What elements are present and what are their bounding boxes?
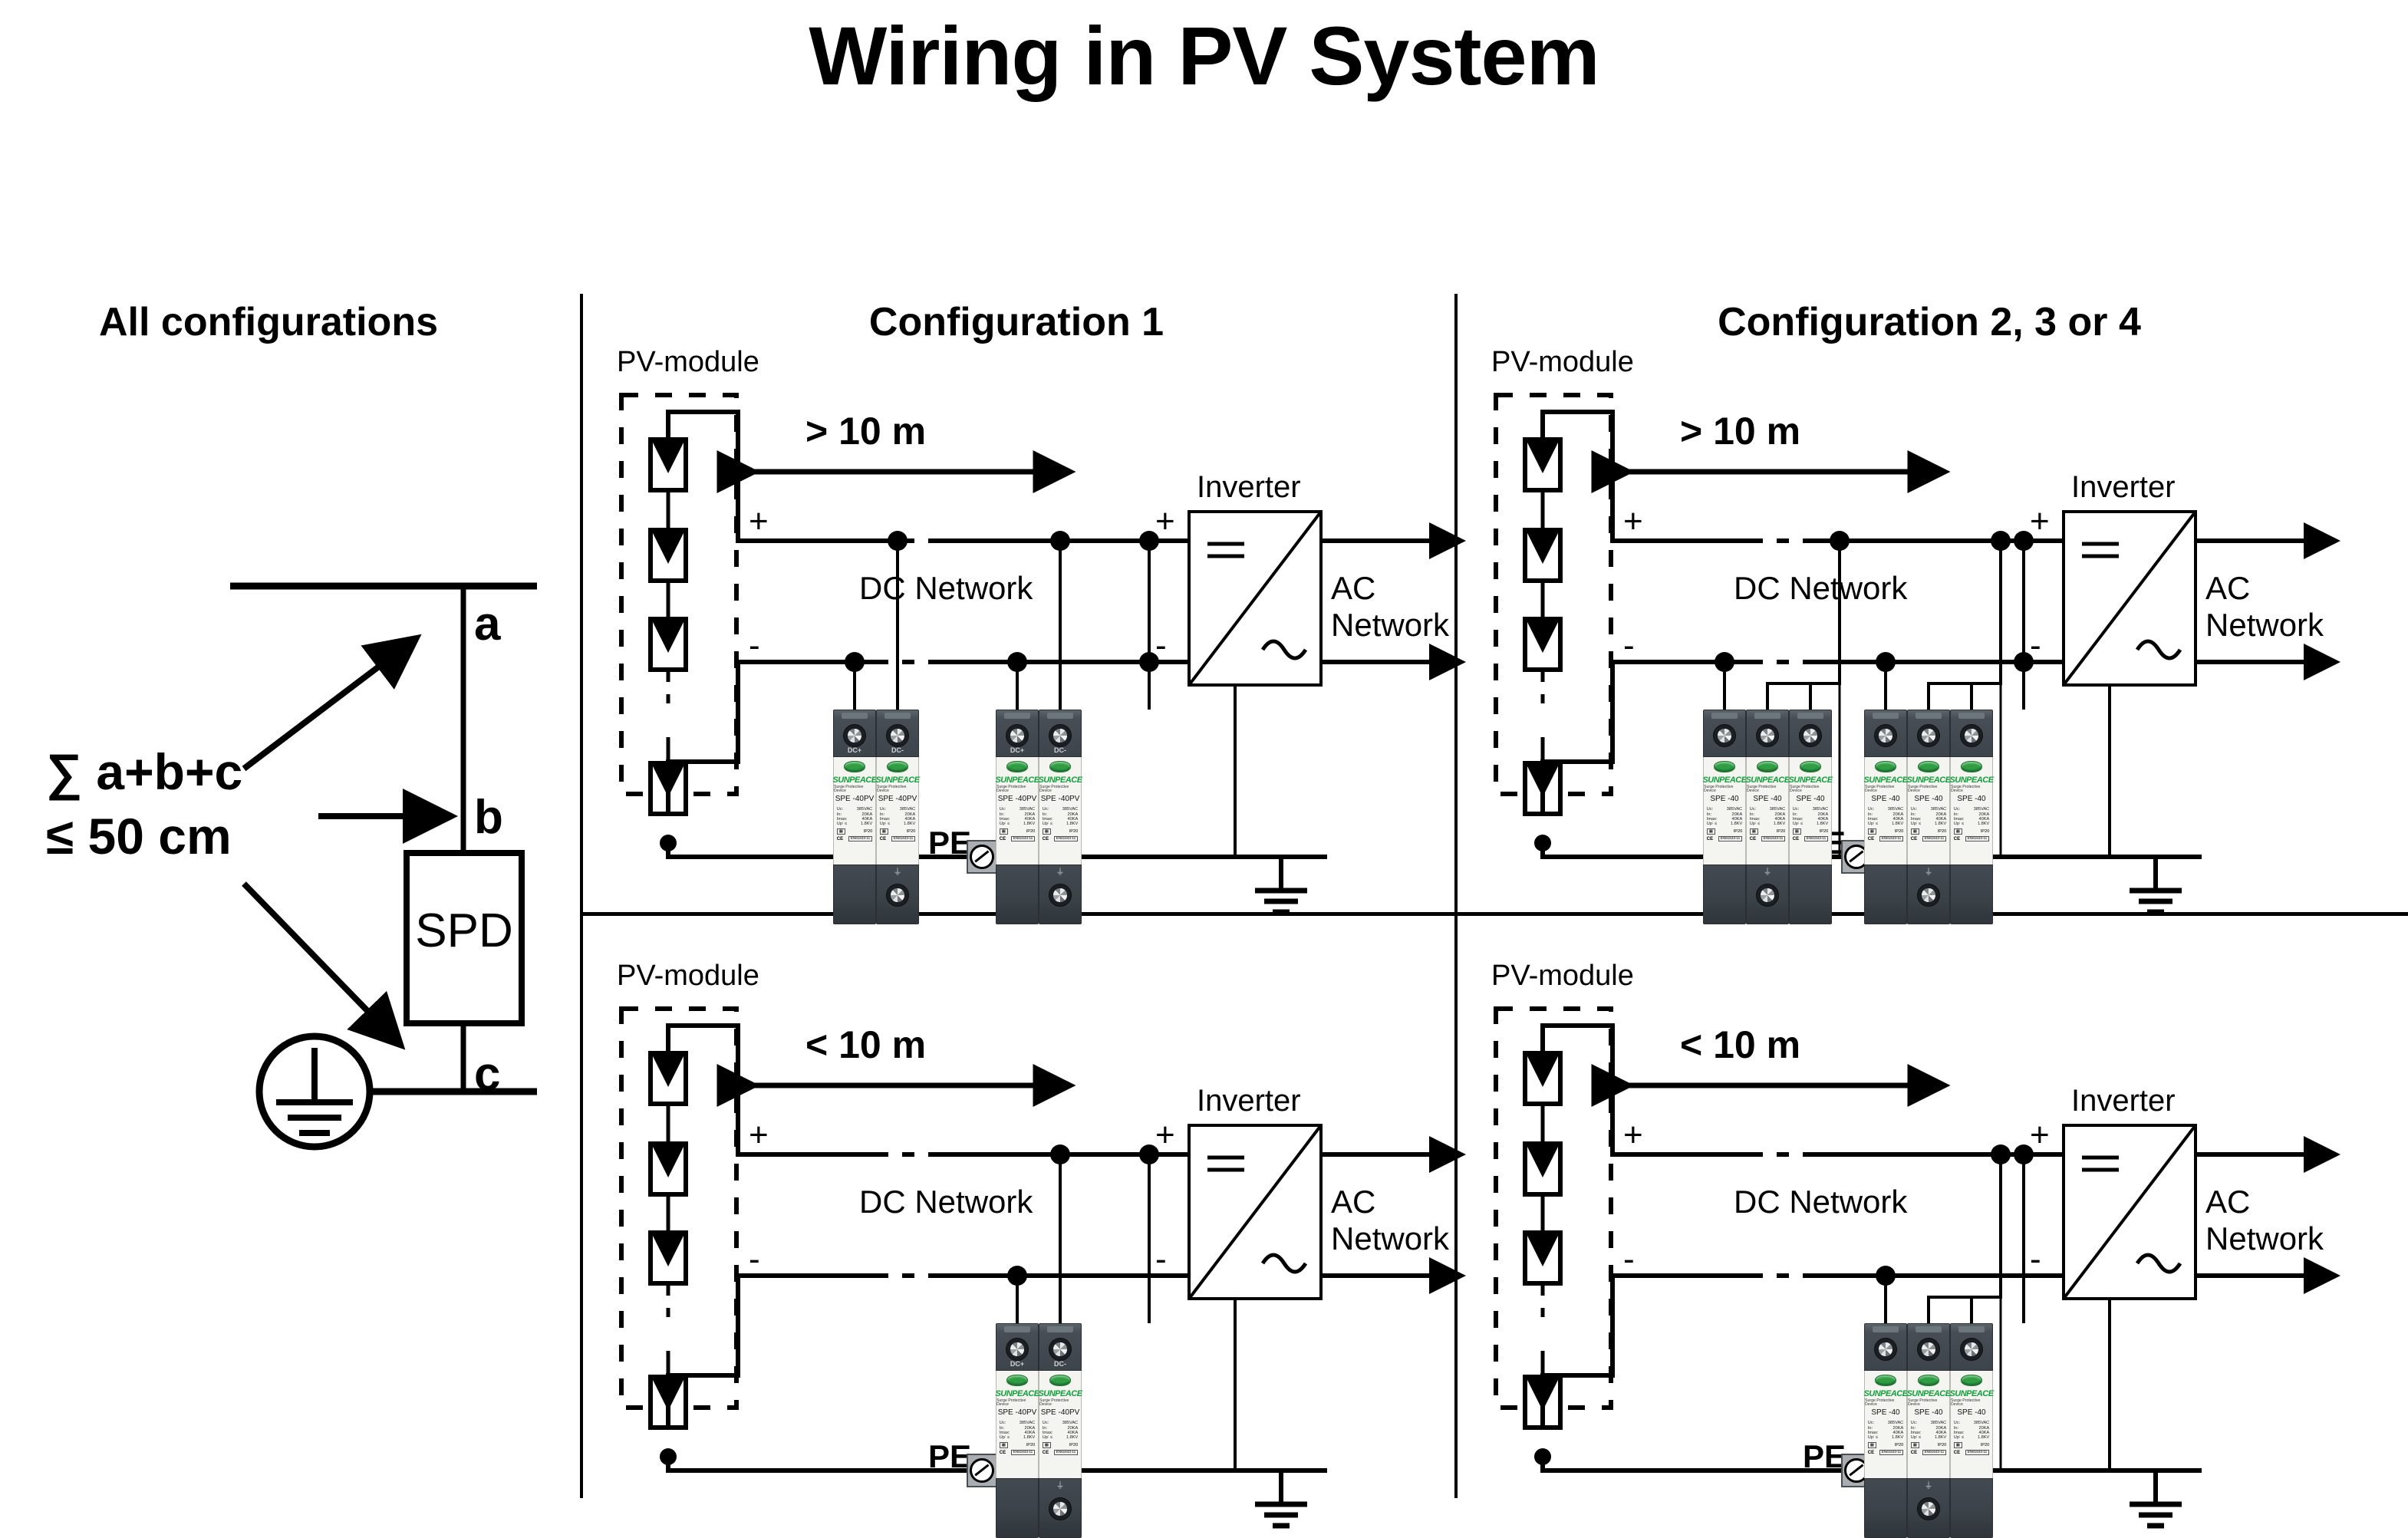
spd-cap-notch — [1916, 1326, 1942, 1332]
junction-dot — [888, 531, 908, 551]
ip-rating-row: ▦IP20 — [1954, 828, 1989, 835]
page-title: Wiring in PV System — [0, 8, 2408, 104]
pv-module-label: PV-module — [1491, 960, 1634, 993]
screw-terminal-icon[interactable] — [1713, 724, 1736, 747]
screw-terminal-icon[interactable] — [1874, 1338, 1897, 1361]
ip-rating-value: IP20 — [1820, 829, 1829, 834]
enclosure-icon: ▦ — [1000, 828, 1008, 835]
spec-row: Up∶ ≤1.8KV — [1911, 1435, 1946, 1440]
screw-terminal-icon[interactable] — [1874, 724, 1897, 747]
spd-base-cap — [996, 1478, 1039, 1538]
model-number: SPE -40 — [1871, 795, 1899, 803]
inverter-label: Inverter — [1197, 470, 1301, 505]
spd-device-ac[interactable]: SUNPEACESurge Protective DeviceSPE -40Uc… — [1864, 1323, 1993, 1538]
spd-terminal-label: DC- — [1039, 746, 1081, 754]
distance-label: < 10 m — [1680, 1023, 1800, 1067]
certification-row: CEEN61643-11 — [1911, 1450, 1946, 1455]
junction-dot — [1830, 531, 1850, 551]
polarity-negative-source: - — [1623, 627, 1635, 665]
ce-mark: CE — [1911, 837, 1917, 841]
brand-name: SUNPEACE — [1906, 1390, 1950, 1398]
dc-network-label: DC Network — [1734, 1184, 1907, 1220]
brand-name: SUNPEACE — [1863, 776, 1907, 785]
model-number: SPE -40PV — [835, 795, 875, 803]
spd-base-cap — [1703, 865, 1746, 924]
product-category: Surge Protective Device — [1951, 785, 1992, 793]
model-number: SPE -40 — [1957, 1409, 1985, 1417]
screw-terminal-icon[interactable] — [1799, 724, 1822, 747]
spec-row: Up∶ ≤1.8KV — [837, 822, 872, 826]
spd-terminal-cap — [1907, 1323, 1950, 1371]
product-category: Surge Protective Device — [1951, 1399, 1992, 1407]
spd-terminal-cap — [1746, 710, 1789, 757]
spd-pole[interactable]: SUNPEACESurge Protective DeviceSPE -40Uc… — [1703, 710, 1746, 924]
pe-label: PE — [928, 825, 971, 861]
screw-terminal-icon[interactable] — [1960, 1338, 1983, 1361]
junction-dot — [1007, 652, 1027, 672]
spd-terminal-label: DC+ — [834, 746, 875, 754]
ip-rating-value: IP20 — [1981, 1443, 1990, 1447]
model-number: SPE -40 — [1957, 795, 1985, 803]
spec-value: 1.8KV — [1817, 822, 1828, 826]
spd-terminal-cap — [1703, 710, 1746, 757]
polarity-positive-inverter: + — [2030, 1116, 2050, 1154]
certification-row: CEEN61643-11 — [1868, 836, 1903, 841]
spec-value: 1.8KV — [1066, 1435, 1078, 1440]
spd-label-face: SUNPEACESurge Protective DeviceSPE -40PV… — [1039, 1371, 1082, 1478]
ac-network-label: AC Network — [2205, 570, 2324, 644]
model-number: SPE -40PV — [1041, 1409, 1080, 1417]
spd-cap-notch — [1873, 713, 1899, 719]
inverter-label: Inverter — [2071, 470, 2176, 505]
spec-row: Up∶ ≤1.8KV — [1868, 1435, 1903, 1440]
ip-rating-row: ▦IP20 — [1911, 1442, 1946, 1448]
spec-list: Uc:385VACIn:20KAImax:40KAUp∶ ≤1.8KV — [1911, 807, 1946, 826]
junction-dot — [1534, 1448, 1551, 1465]
ip-rating-row: ▦IP20 — [1954, 1442, 1989, 1448]
certification-row: CEEN61643-11 — [1000, 836, 1035, 841]
standard-reference: EN61643-11 — [891, 836, 915, 841]
polarity-positive-source: + — [749, 1116, 769, 1154]
spd-terminal-label: DC- — [1039, 1360, 1081, 1368]
dc-network-label: DC Network — [859, 570, 1033, 607]
spec-value: 1.8KV — [1892, 1435, 1903, 1440]
arrow-to-a — [244, 640, 414, 769]
junction-dot — [1876, 1266, 1896, 1286]
status-indicator-green — [1875, 761, 1896, 772]
spec-list: Uc:385VACIn:20KAImax:40KAUp∶ ≤1.8KV — [1793, 807, 1828, 826]
ce-mark: CE — [1954, 1451, 1960, 1455]
spd-cap-notch — [1754, 713, 1781, 719]
enclosure-icon: ▦ — [1707, 828, 1715, 835]
dc-network-label: DC Network — [1734, 570, 1907, 607]
standard-reference: EN61643-11 — [1879, 836, 1903, 841]
spd-pole[interactable]: SUNPEACESurge Protective DeviceSPE -40Uc… — [1864, 710, 1907, 924]
spec-value: 1.8KV — [1978, 1435, 1989, 1440]
ip-rating-value: IP20 — [1069, 1443, 1079, 1447]
distance-label: > 10 m — [1680, 409, 1800, 453]
screw-terminal-icon[interactable] — [1006, 1338, 1029, 1361]
ip-rating-row: ▦IP20 — [1911, 828, 1946, 835]
enclosure-icon: ▦ — [1868, 828, 1876, 835]
enclosure-icon: ▦ — [1911, 828, 1919, 835]
spec-row: Up∶ ≤1.8KV — [1911, 822, 1946, 826]
earth-symbol-icon: ⏚ — [1925, 1482, 1933, 1490]
earth-symbol-icon: ⏚ — [894, 868, 902, 877]
spd-base-cap: ⏚ — [1907, 1478, 1950, 1538]
junction-dot — [1050, 1144, 1070, 1164]
spd-pole[interactable]: DC-SUNPEACESurge Protective DeviceSPE -4… — [1039, 1323, 1082, 1538]
spd-pole[interactable]: SUNPEACESurge Protective DeviceSPE -40Uc… — [1864, 1323, 1907, 1538]
spec-key: Up∶ ≤ — [1000, 1435, 1010, 1440]
spd-label-face: SUNPEACESurge Protective DeviceSPE -40Uc… — [1950, 757, 1993, 865]
spd-device-dc[interactable]: DC+SUNPEACESurge Protective DeviceSPE -4… — [996, 710, 1082, 924]
pe-label: PE — [1803, 1438, 1846, 1475]
ce-mark: CE — [1000, 837, 1006, 841]
model-number: SPE -40PV — [1041, 795, 1080, 803]
ce-mark: CE — [1793, 837, 1799, 841]
dc-network-label: DC Network — [859, 1184, 1033, 1220]
spd-bridge-link — [1929, 1154, 2001, 1323]
ce-mark: CE — [837, 837, 843, 841]
wiring-diagram-cfg1-long: PV-module> 10 mDC NetworkAC NetworkInver… — [606, 349, 1450, 917]
spd-pole[interactable]: SUNPEACESurge Protective DeviceSPE -40Uc… — [1746, 710, 1789, 924]
spec-key: Up∶ ≤ — [1868, 822, 1878, 826]
junction-dot — [1715, 652, 1734, 672]
spec-key: Up∶ ≤ — [1043, 1435, 1052, 1440]
spd-label-face: SUNPEACESurge Protective DeviceSPE -40Uc… — [1950, 1371, 1993, 1478]
polarity-negative-source: - — [1623, 1240, 1635, 1279]
polarity-positive-inverter: + — [1155, 1116, 1175, 1154]
spd-cap-notch — [1047, 1326, 1074, 1332]
spec-key: Up∶ ≤ — [1000, 822, 1010, 826]
spec-value: 1.8KV — [1892, 822, 1903, 826]
spd-label-face: SUNPEACESurge Protective DeviceSPE -40PV… — [1039, 757, 1082, 865]
brand-name: SUNPEACE — [1788, 776, 1832, 785]
spec-list: Uc:385VACIn:20KAImax:40KAUp∶ ≤1.8KV — [1043, 1421, 1078, 1440]
enclosure-icon: ▦ — [1793, 828, 1801, 835]
spd-cap-notch — [1004, 713, 1031, 719]
junction-dot — [660, 1448, 677, 1465]
spd-pole[interactable]: SUNPEACESurge Protective DeviceSPE -40Uc… — [1907, 1323, 1950, 1538]
polarity-positive-inverter: + — [2030, 502, 2050, 541]
spec-list: Uc:385VACIn:20KAImax:40KAUp∶ ≤1.8KV — [1954, 807, 1989, 826]
spd-base-cap — [996, 865, 1039, 924]
standard-reference: EN61643-11 — [1011, 1450, 1035, 1455]
product-category: Surge Protective Device — [1039, 785, 1081, 793]
polarity-positive-source: + — [749, 502, 769, 541]
product-category: Surge Protective Device — [1790, 785, 1831, 793]
spec-row: Up∶ ≤1.8KV — [1868, 822, 1903, 826]
pe-screw-terminal[interactable] — [970, 845, 994, 869]
spd-base-cap: ⏚ — [1039, 1478, 1082, 1538]
model-number: SPE -40 — [1914, 1409, 1942, 1417]
brand-name: SUNPEACE — [875, 776, 919, 785]
product-category: Surge Protective Device — [996, 1399, 1038, 1407]
ip-rating-value: IP20 — [1069, 829, 1079, 834]
spec-list: Uc:385VACIn:20KAImax:40KAUp∶ ≤1.8KV — [1868, 807, 1903, 826]
spd-pole[interactable]: DC+SUNPEACESurge Protective DeviceSPE -4… — [833, 710, 876, 924]
model-number: SPE -40 — [1796, 795, 1824, 803]
spec-value: 1.8KV — [904, 822, 915, 826]
spec-list: Uc:385VACIn:20KAImax:40KAUp∶ ≤1.8KV — [1707, 807, 1742, 826]
screw-terminal-icon[interactable] — [843, 724, 866, 747]
status-indicator-green — [844, 761, 865, 772]
certification-row: CEEN61643-11 — [1793, 836, 1828, 841]
spd-cap-notch — [1004, 1326, 1031, 1332]
spec-key: Up∶ ≤ — [1750, 822, 1760, 826]
product-category: Surge Protective Device — [834, 785, 875, 793]
standard-reference: EN61643-11 — [1761, 836, 1785, 841]
polarity-negative-inverter: - — [2030, 1240, 2041, 1279]
spec-key: Up∶ ≤ — [1911, 1435, 1921, 1440]
spd-pole[interactable]: DC-SUNPEACESurge Protective DeviceSPE -4… — [1039, 710, 1082, 924]
ce-mark: CE — [1043, 1451, 1049, 1455]
spd-cap-notch — [1873, 1326, 1899, 1332]
spd-terminal-cap: DC+ — [996, 1323, 1039, 1371]
ip-rating-value: IP20 — [907, 829, 916, 834]
screw-terminal-icon[interactable] — [1049, 724, 1072, 747]
standard-reference: EN61643-11 — [1054, 836, 1078, 841]
pe-screw-terminal[interactable] — [970, 1458, 994, 1483]
spec-list: Uc:385VACIn:20KAImax:40KAUp∶ ≤1.8KV — [837, 807, 872, 826]
earth-symbol-icon: ⏚ — [1056, 1482, 1065, 1490]
spec-key: Up∶ ≤ — [1868, 1435, 1878, 1440]
spec-value: 1.8KV — [1935, 1435, 1946, 1440]
polarity-negative-source: - — [749, 1240, 760, 1279]
model-number: SPE -40PV — [878, 795, 917, 803]
junction-dot — [1991, 531, 2011, 551]
ip-rating-row: ▦IP20 — [1868, 828, 1903, 835]
spd-label-face: SUNPEACESurge Protective DeviceSPE -40Uc… — [1703, 757, 1746, 865]
screw-terminal-icon[interactable] — [1049, 884, 1072, 907]
brand-name: SUNPEACE — [1906, 776, 1950, 785]
enclosure-icon: ▦ — [1954, 828, 1962, 835]
distance-label: < 10 m — [805, 1023, 926, 1067]
ip-rating-value: IP20 — [1938, 829, 1947, 834]
spec-row: Up∶ ≤1.8KV — [1000, 822, 1035, 826]
spd-base-cap — [1864, 865, 1907, 924]
ce-mark: CE — [1043, 837, 1049, 841]
spec-key: Up∶ ≤ — [1793, 822, 1803, 826]
spec-value: 1.8KV — [1774, 822, 1785, 826]
spd-pole[interactable]: DC+SUNPEACESurge Protective DeviceSPE -4… — [996, 1323, 1039, 1538]
polarity-negative-inverter: - — [1155, 627, 1167, 665]
standard-reference: EN61643-11 — [1922, 836, 1946, 841]
spec-row: Up∶ ≤1.8KV — [1750, 822, 1785, 826]
status-indicator-green — [1006, 761, 1028, 772]
product-category: Surge Protective Device — [877, 785, 918, 793]
screw-terminal-icon[interactable] — [1006, 724, 1029, 747]
certification-row: CEEN61643-11 — [1954, 836, 1989, 841]
enclosure-icon: ▦ — [880, 828, 888, 835]
status-indicator-green — [1714, 761, 1735, 772]
status-indicator-green — [1961, 1375, 1982, 1386]
earth-symbol-icon: ⏚ — [1764, 868, 1772, 877]
spd-terminal-cap — [1950, 1323, 1993, 1371]
screw-terminal-icon[interactable] — [1917, 1497, 1940, 1520]
spd-cap-notch — [884, 713, 911, 719]
ip-rating-value: IP20 — [1895, 1443, 1904, 1447]
ce-mark: CE — [1750, 837, 1756, 841]
spd-label-face: SUNPEACESurge Protective DeviceSPE -40Uc… — [1864, 1371, 1907, 1478]
screw-terminal-icon[interactable] — [1049, 1497, 1072, 1520]
junction-dot — [1007, 1266, 1027, 1286]
brand-name: SUNPEACE — [1949, 776, 1993, 785]
screw-terminal-icon[interactable] — [1917, 884, 1940, 907]
ac-network-label: AC Network — [1331, 1184, 1450, 1257]
junction-dot — [1050, 531, 1070, 551]
standard-reference: EN61643-11 — [1011, 836, 1035, 841]
ce-mark: CE — [1954, 837, 1960, 841]
ip-rating-row: ▦IP20 — [1750, 828, 1785, 835]
status-indicator-green — [1757, 761, 1778, 772]
standard-reference: EN61643-11 — [1804, 836, 1828, 841]
spd-pole[interactable]: DC-SUNPEACESurge Protective DeviceSPE -4… — [876, 710, 919, 924]
spec-key: Up∶ ≤ — [1911, 822, 1921, 826]
arrow-to-c — [244, 884, 399, 1043]
standard-reference: EN61643-11 — [848, 836, 872, 841]
ce-mark: CE — [880, 837, 886, 841]
screw-terminal-icon[interactable] — [1756, 884, 1779, 907]
spec-list: Uc:385VACIn:20KAImax:40KAUp∶ ≤1.8KV — [1000, 807, 1035, 826]
spd-pole[interactable]: SUNPEACESurge Protective DeviceSPE -40Uc… — [1950, 1323, 1993, 1538]
status-indicator-green — [1918, 1375, 1939, 1386]
spec-value: 1.8KV — [1023, 1435, 1035, 1440]
ip-rating-value: IP20 — [1938, 1443, 1947, 1447]
ip-rating-value: IP20 — [1777, 829, 1786, 834]
product-category: Surge Protective Device — [1865, 1399, 1906, 1407]
spd-label-face: SUNPEACESurge Protective DeviceSPE -40Uc… — [1864, 757, 1907, 865]
spd-cap-notch — [842, 713, 868, 719]
spd-box-label: SPD — [407, 904, 522, 958]
spd-base-cap — [1950, 865, 1993, 924]
pe-bus-left — [668, 843, 967, 857]
pv-module-label: PV-module — [617, 960, 759, 993]
spec-row: Up∶ ≤1.8KV — [1954, 822, 1989, 826]
spd-label-face: SUNPEACESurge Protective DeviceSPE -40PV… — [833, 757, 876, 865]
screw-terminal-icon[interactable] — [1756, 724, 1779, 747]
screw-terminal-icon[interactable] — [886, 884, 909, 907]
inverter-label: Inverter — [1197, 1084, 1301, 1118]
ip-rating-value: IP20 — [1026, 829, 1036, 834]
spd-bridge-link — [1767, 541, 1840, 710]
status-indicator-green — [1800, 761, 1821, 772]
panel-header-configuration-1: Configuration 1 — [583, 299, 1450, 345]
ac-network-label: AC Network — [2205, 1184, 2324, 1257]
earth-symbol-icon: ⏚ — [1925, 868, 1933, 877]
certification-row: CEEN61643-11 — [1868, 1450, 1903, 1455]
spd-terminal-cap — [1907, 710, 1950, 757]
pe-label: PE — [928, 1438, 971, 1475]
ip-rating-row: ▦IP20 — [1707, 828, 1742, 835]
model-number: SPE -40 — [1710, 795, 1738, 803]
spd-cap-notch — [1711, 713, 1738, 719]
brand-name: SUNPEACE — [832, 776, 876, 785]
spd-base-cap — [1864, 1478, 1907, 1538]
enclosure-icon: ▦ — [1043, 828, 1051, 835]
wiring-diagram-cfg234-long: PV-module> 10 mDC NetworkAC NetworkInver… — [1481, 349, 2324, 917]
spd-base-cap: ⏚ — [876, 865, 919, 924]
screw-terminal-icon[interactable] — [1917, 724, 1940, 747]
ip-rating-row: ▦IP20 — [1793, 828, 1828, 835]
spec-key: Up∶ ≤ — [1954, 822, 1964, 826]
pe-bus-left — [668, 1457, 967, 1470]
spd-bridge-link — [1929, 541, 2001, 710]
spd-base-cap: ⏚ — [1039, 865, 1082, 924]
standard-reference: EN61643-11 — [1718, 836, 1742, 841]
spd-terminal-cap: DC- — [1039, 710, 1082, 757]
junction-dot — [1876, 652, 1896, 672]
model-number: SPE -40 — [1753, 795, 1781, 803]
spec-row: Up∶ ≤1.8KV — [1954, 1435, 1989, 1440]
label-b: b — [474, 790, 503, 845]
spd-device-dc[interactable]: DC+SUNPEACESurge Protective DeviceSPE -4… — [833, 710, 919, 924]
polarity-positive-source: + — [1623, 1116, 1643, 1154]
screw-terminal-icon[interactable] — [1960, 724, 1983, 747]
model-number: SPE -40 — [1914, 795, 1942, 803]
label-c: c — [474, 1047, 500, 1102]
wiring-diagram-cfg234-short: PV-module< 10 mDC NetworkAC NetworkInver… — [1481, 963, 2324, 1530]
panel-header-all-configurations: All configurations — [0, 299, 537, 345]
screw-terminal-icon[interactable] — [886, 724, 909, 747]
spd-device-ac[interactable]: SUNPEACESurge Protective DeviceSPE -40Uc… — [1864, 710, 1993, 924]
spec-list: Uc:385VACIn:20KAImax:40KAUp∶ ≤1.8KV — [1954, 1421, 1989, 1440]
standard-reference: EN61643-11 — [1965, 1450, 1989, 1455]
pv-module-label: PV-module — [617, 346, 759, 379]
standard-reference: EN61643-11 — [1922, 1450, 1946, 1455]
junction-dot — [660, 835, 677, 851]
polarity-negative-inverter: - — [2030, 627, 2041, 665]
spd-pole[interactable]: SUNPEACESurge Protective DeviceSPE -40Uc… — [1907, 710, 1950, 924]
enclosure-icon: ▦ — [1750, 828, 1758, 835]
screw-terminal-icon[interactable] — [1917, 1338, 1940, 1361]
spec-value: 1.8KV — [1731, 822, 1742, 826]
certification-row: CEEN61643-11 — [1043, 1450, 1078, 1455]
spd-pole[interactable]: SUNPEACESurge Protective DeviceSPE -40Uc… — [1789, 710, 1832, 924]
enclosure-icon: ▦ — [1043, 1442, 1051, 1448]
ip-rating-value: IP20 — [1026, 1443, 1036, 1447]
spd-terminal-cap — [1789, 710, 1832, 757]
spd-cap-notch — [1958, 713, 1985, 719]
spd-device-dc[interactable]: DC+SUNPEACESurge Protective DeviceSPE -4… — [996, 1323, 1082, 1538]
spd-terminal-cap: DC+ — [833, 710, 876, 757]
wiring-diagram-cfg1-short: PV-module< 10 mDC NetworkAC NetworkInver… — [606, 963, 1450, 1530]
divider-vertical-left — [580, 294, 583, 1498]
spec-key: Up∶ ≤ — [1707, 822, 1717, 826]
spec-list: Uc:385VACIn:20KAImax:40KAUp∶ ≤1.8KV — [1868, 1421, 1903, 1440]
ip-rating-row: ▦IP20 — [1043, 1442, 1078, 1448]
junction-dot — [1534, 835, 1551, 851]
spd-pole[interactable]: DC+SUNPEACESurge Protective DeviceSPE -4… — [996, 710, 1039, 924]
inverter-label: Inverter — [2071, 1084, 2176, 1118]
ce-mark: CE — [1000, 1451, 1006, 1455]
screw-terminal-icon[interactable] — [1049, 1338, 1072, 1361]
spd-base-cap — [1789, 865, 1832, 924]
product-category: Surge Protective Device — [996, 785, 1038, 793]
ce-mark: CE — [1868, 837, 1874, 841]
spec-key: Up∶ ≤ — [837, 822, 847, 826]
all-configurations-diagram: ∑ a+b+c ≤ 50 cm a b c SPD — [0, 537, 575, 1227]
spd-label-face: SUNPEACESurge Protective DeviceSPE -40Uc… — [1789, 757, 1832, 865]
standard-reference: EN61643-11 — [1965, 836, 1989, 841]
spd-device-ac[interactable]: SUNPEACESurge Protective DeviceSPE -40Uc… — [1703, 710, 1832, 924]
spd-base-cap — [1950, 1478, 1993, 1538]
spd-pole[interactable]: SUNPEACESurge Protective DeviceSPE -40Uc… — [1950, 710, 1993, 924]
enclosure-icon: ▦ — [1000, 1442, 1008, 1448]
earth-symbol-icon: ⏚ — [1056, 868, 1065, 877]
label-a: a — [474, 597, 500, 651]
